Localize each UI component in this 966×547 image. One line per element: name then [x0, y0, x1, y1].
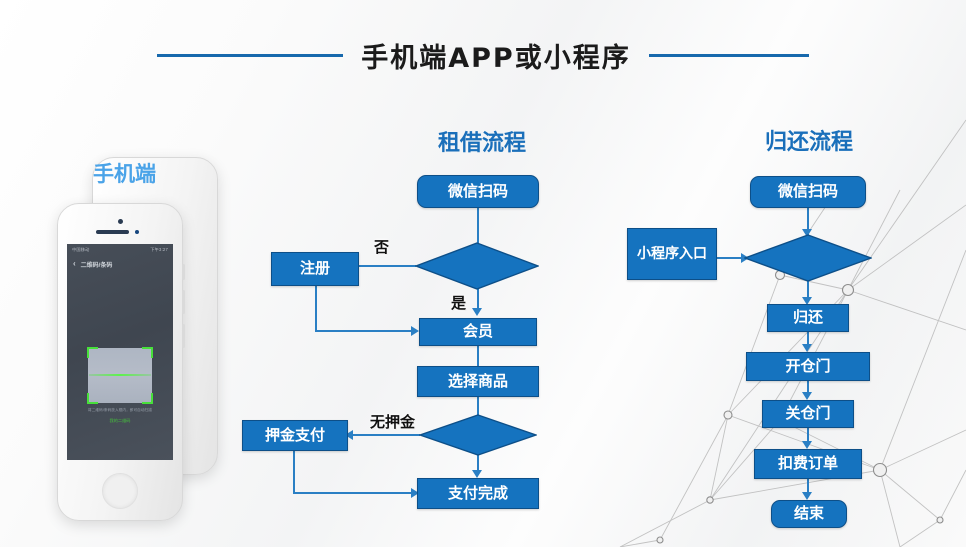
node-label: 小程序入口	[637, 246, 707, 262]
node-label: 选择商品	[448, 374, 508, 390]
arrowhead-down-icon	[802, 392, 812, 400]
node-open-door[interactable]: 开仓门	[746, 352, 870, 381]
edge-decision-to-deposit	[348, 434, 420, 436]
diamond-shape-icon	[415, 242, 539, 290]
arrowhead-right-icon	[411, 326, 419, 336]
node-label: 开仓门	[785, 359, 830, 375]
decision-has-deposit[interactable]	[419, 414, 537, 456]
arrowhead-down-icon	[802, 441, 812, 449]
arrowhead-down-icon	[802, 492, 812, 500]
viewfinder-corner-icon	[142, 393, 153, 404]
viewfinder-corner-icon	[87, 393, 98, 404]
title-rule-left	[157, 54, 343, 57]
arrowhead-down-icon	[472, 308, 482, 316]
section-heading-return-flow: 归还流程	[765, 124, 853, 156]
node-register[interactable]: 注册	[271, 252, 359, 286]
node-label: 归还	[793, 310, 823, 326]
qr-scan-viewfinder	[88, 348, 152, 403]
section-heading-rent-flow: 租借流程	[438, 125, 526, 157]
phone-mockup: 中国移动 下午3:27 ‹ 二维码/条码 将二维码/条码放入框内，即可自动扫描 …	[57, 203, 183, 521]
slide-canvas: 手机端APP或小程序 手机端 租借流程 归还流程 中国移动 下午3:27 ‹ 二…	[0, 0, 966, 547]
phone-volume-up-button	[182, 290, 185, 314]
edge-label-yes: 是	[451, 292, 466, 313]
node-select-goods[interactable]: 选择商品	[417, 366, 539, 397]
diamond-shape-icon	[419, 414, 537, 456]
viewfinder-corner-icon	[87, 347, 98, 358]
node-label: 微信扫码	[448, 184, 508, 200]
viewfinder-corner-icon	[142, 347, 153, 358]
decision-return-check[interactable]	[744, 234, 872, 282]
decision-is-member[interactable]	[415, 242, 539, 290]
node-label: 注册	[300, 261, 330, 277]
edge-member-to-select	[477, 346, 479, 366]
node-return[interactable]: 归还	[767, 304, 849, 332]
edge-deposit-to-paydone	[293, 492, 413, 494]
edge-register-to-member	[315, 330, 413, 332]
node-label: 关仓门	[785, 406, 830, 422]
node-label: 押金支付	[265, 428, 325, 444]
scan-line-icon	[89, 374, 151, 376]
edge-select-to-decision	[477, 397, 479, 415]
phone-sensor-icon	[135, 230, 139, 234]
node-label: 会员	[463, 324, 493, 340]
node-label: 结束	[794, 506, 824, 522]
edge-label-no-deposit: 无押金	[370, 411, 415, 432]
slide-title-bar: 手机端APP或小程序	[0, 36, 966, 75]
title-rule-right	[649, 54, 809, 57]
phone-screen: 中国移动 下午3:27 ‹ 二维码/条码 将二维码/条码放入框内，即可自动扫描 …	[67, 244, 173, 460]
my-qr-code-link[interactable]: 我的二维码	[67, 418, 173, 424]
phone-speaker	[96, 230, 129, 234]
edge-register-down	[315, 286, 317, 331]
back-arrow-icon[interactable]: ‹	[73, 260, 76, 268]
arrowhead-down-icon	[472, 470, 482, 478]
node-close-door[interactable]: 关仓门	[762, 400, 854, 428]
diamond-shape-icon	[744, 234, 872, 282]
status-bar: 中国移动 下午3:27	[67, 244, 173, 256]
phone-mute-switch	[182, 264, 185, 280]
node-deposit-pay[interactable]: 押金支付	[242, 420, 348, 451]
status-time: 下午3:27	[150, 247, 168, 253]
phone-home-button[interactable]	[102, 473, 138, 509]
edge-label-no: 否	[374, 236, 389, 257]
node-charge-order[interactable]: 扣费订单	[754, 449, 862, 479]
node-miniapp-entry[interactable]: 小程序入口	[627, 228, 717, 280]
node-wechat-scan-return[interactable]: 微信扫码	[750, 176, 866, 208]
page-title: 手机端APP或小程序	[361, 36, 630, 75]
node-end[interactable]: 结束	[771, 500, 847, 528]
arrowhead-down-icon	[802, 344, 812, 352]
node-member[interactable]: 会员	[419, 318, 537, 346]
carrier-label: 中国移动	[72, 247, 90, 253]
app-nav-title: 二维码/条码	[81, 260, 113, 269]
node-label: 扣费订单	[778, 456, 838, 472]
node-label: 微信扫码	[778, 184, 838, 200]
phone-volume-down-button	[182, 324, 185, 348]
node-wechat-scan[interactable]: 微信扫码	[417, 175, 539, 208]
edge-deposit-down	[293, 451, 295, 493]
scan-hint-text: 将二维码/条码放入框内，即可自动扫描	[67, 408, 173, 413]
node-pay-done[interactable]: 支付完成	[417, 478, 539, 509]
app-nav-bar: ‹ 二维码/条码	[67, 257, 173, 271]
node-label: 支付完成	[448, 486, 508, 502]
phone-camera-icon	[118, 219, 123, 224]
